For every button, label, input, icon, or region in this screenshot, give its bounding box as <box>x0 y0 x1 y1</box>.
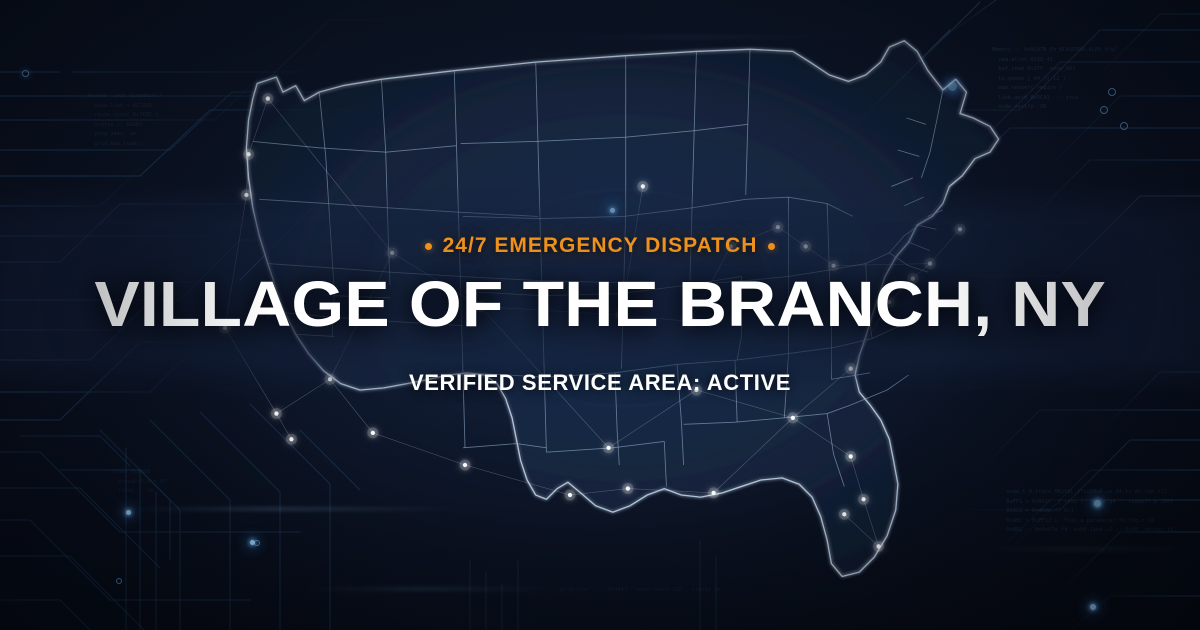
page-title: Village of the Branch, NY <box>94 272 1106 337</box>
service-area-banner: 0x1A4F init_dispatch() node.link = ACTIV… <box>0 0 1200 630</box>
banner-content: 24/7 Emergency Dispatch Village of the B… <box>0 0 1200 630</box>
status-badge: Verified Service Area: Active <box>409 370 791 396</box>
bullet-dot-left-icon <box>425 243 432 250</box>
bullet-dot-right-icon <box>768 243 775 250</box>
eyebrow-label: 24/7 Emergency Dispatch <box>425 234 776 258</box>
eyebrow-text: 24/7 Emergency Dispatch <box>443 234 758 258</box>
